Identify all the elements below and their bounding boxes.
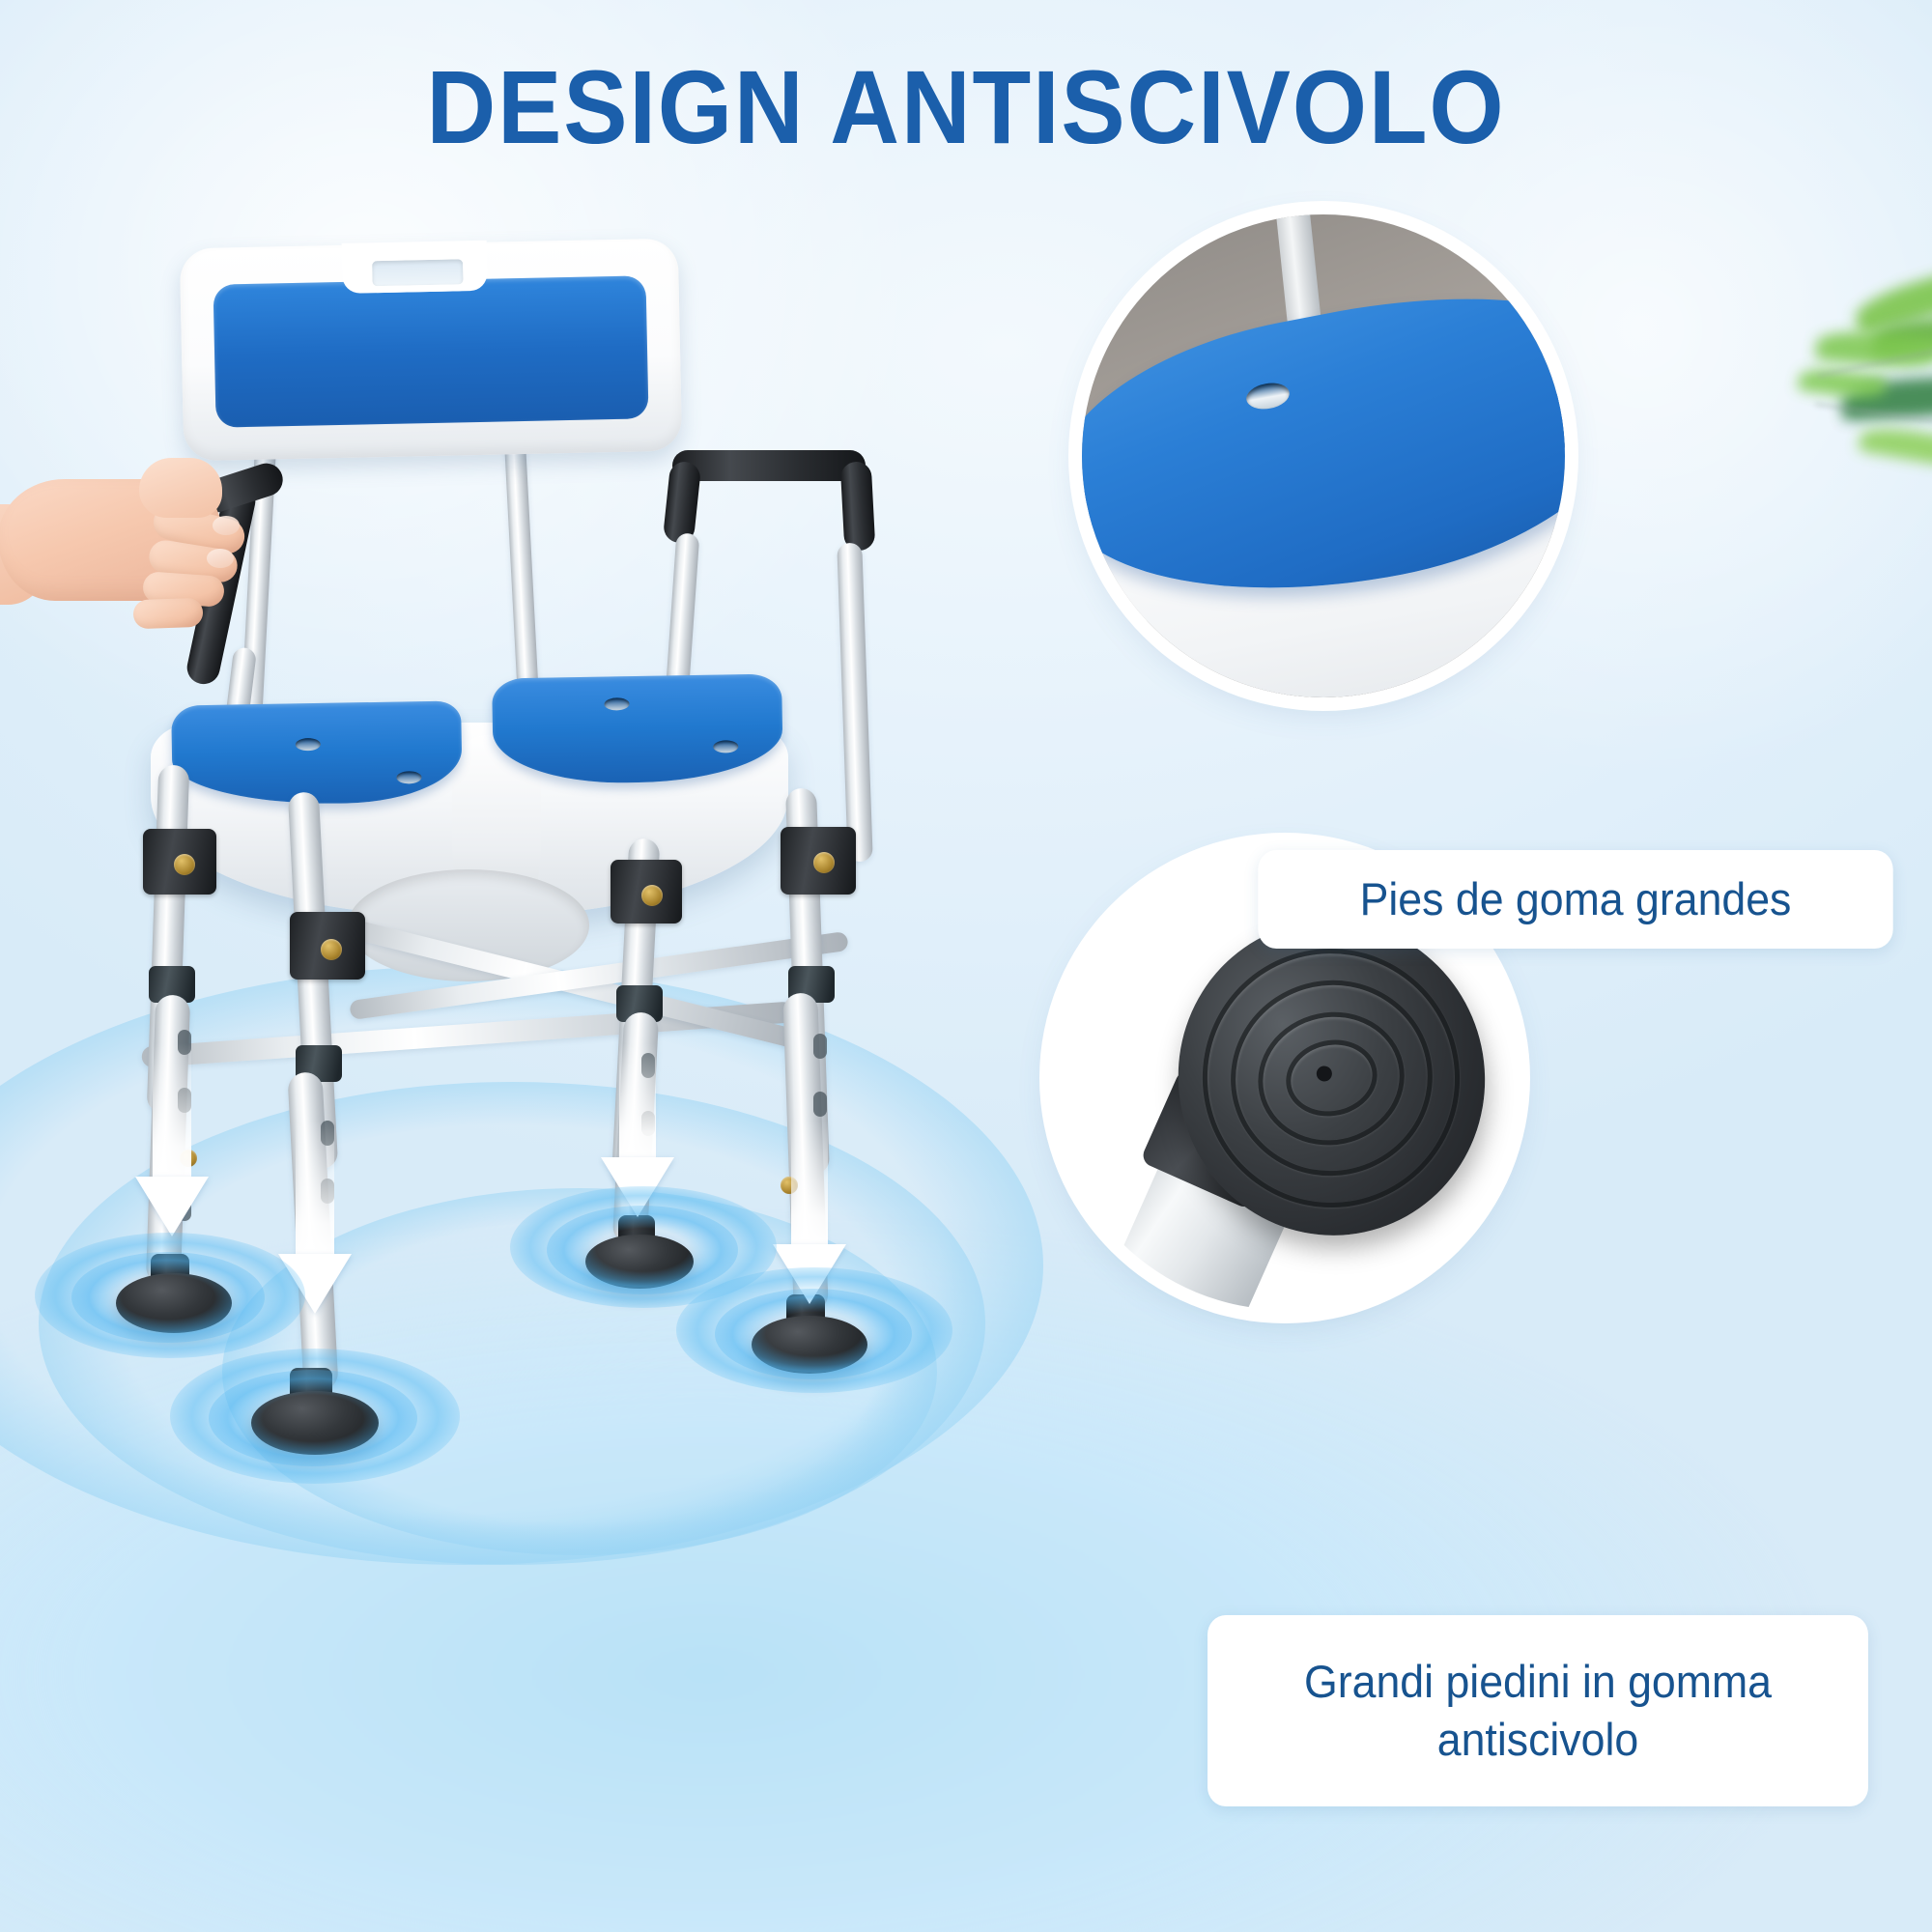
right-armrest-post-rear [837,543,873,863]
label-rubber-feet-it-line1: Grandi piedini in gomma [1304,1653,1772,1711]
fingernail [207,549,234,568]
right-armrest-grip-top [672,450,866,481]
hand-gripping-armrest [0,452,298,636]
backrest-panel [180,239,682,462]
label-rubber-feet-es-text: Pies de goma grandes [1360,870,1792,928]
label-rubber-feet-es: Pies de goma grandes [1258,850,1892,949]
backrest-handle-cutout [365,252,470,293]
leg-adjust-slot [813,1092,827,1117]
right-armrest-grip-front [663,461,702,545]
fingernail [213,516,240,535]
height-adjust-arrow [135,1043,209,1236]
seat-pad-closeup-inset [1082,214,1565,697]
label-rubber-feet-it: Grandi piedini in gomma antiscivolo [1207,1615,1868,1806]
clamp-screw [641,885,663,906]
finger [132,598,203,629]
leg-adjust-slot [813,1034,827,1059]
clamp-screw [321,939,342,960]
label-rubber-feet-it-line2: antiscivolo [1304,1711,1772,1769]
infographic-stage: DESIGN ANTISCIVOLO Pies de goma grandes … [0,0,1932,1932]
thumb [139,458,222,518]
clamp-screw [813,852,835,873]
shower-chair [58,193,1043,1700]
clamp-screw [174,854,195,875]
right-armrest-grip-rear [840,461,876,552]
page-title: DESIGN ANTISCIVOLO [77,46,1855,167]
backrest-blue-pad [213,275,649,427]
